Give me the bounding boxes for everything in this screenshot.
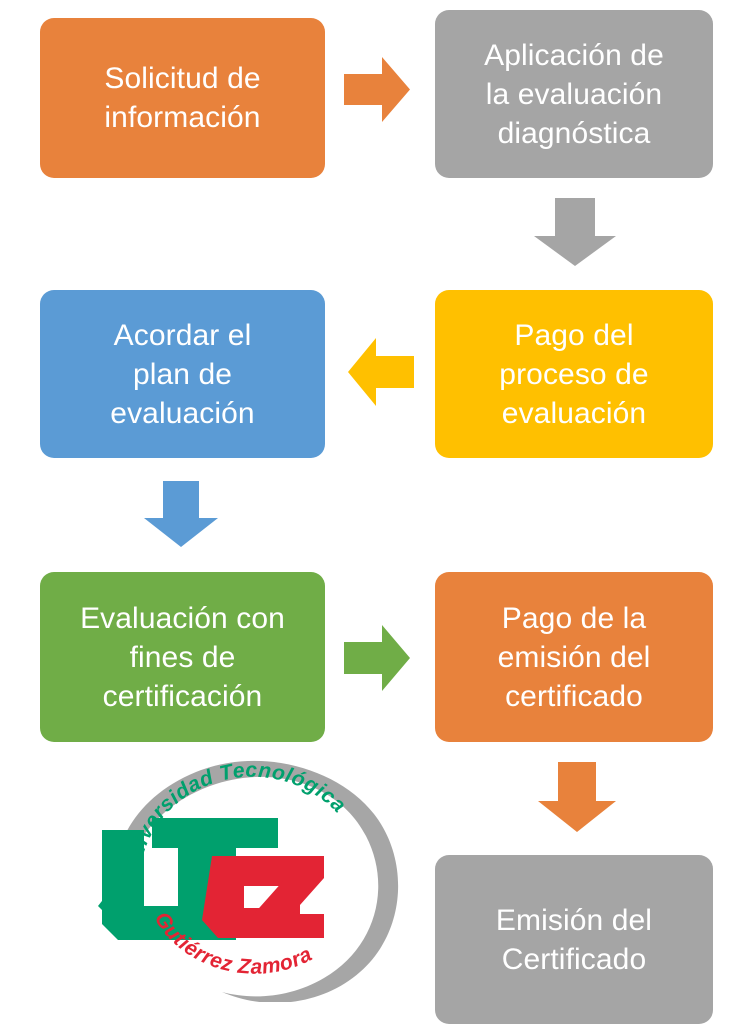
logo-monogram-gz (202, 856, 324, 938)
process-box-emision[interactable]: Emisión del Certificado (435, 855, 713, 1024)
process-box-pago-emision[interactable]: Pago de la emisión del certificado (435, 572, 713, 742)
flowchart-canvas: Solicitud de información Aplicación de l… (0, 0, 754, 1024)
arrow-right-icon-solicitud-to-aplicacion (344, 57, 410, 122)
process-box-aplicacion[interactable]: Aplicación de la evaluación diagnóstica (435, 10, 713, 178)
process-box-evaluacion[interactable]: Evaluación con fines de certificación (40, 572, 325, 742)
arrow-left-icon-pago-proceso-to-acordar (348, 338, 414, 406)
process-box-solicitud[interactable]: Solicitud de información (40, 18, 325, 178)
process-box-acordar[interactable]: Acordar el plan de evaluación (40, 290, 325, 458)
arrow-down-icon-acordar-to-evaluacion (144, 481, 218, 547)
arrow-down-icon-pago-emision-to-emision (538, 762, 616, 832)
arrow-right-icon-evaluacion-to-pago-emision (344, 625, 410, 691)
arrow-down-icon-aplicacion-to-pago-proceso (534, 198, 616, 266)
process-box-pago-proceso[interactable]: Pago del proceso de evaluación (435, 290, 713, 458)
utgz-logo: Universidad Tecnológica Gutiérrez Zamora (92, 756, 410, 1002)
